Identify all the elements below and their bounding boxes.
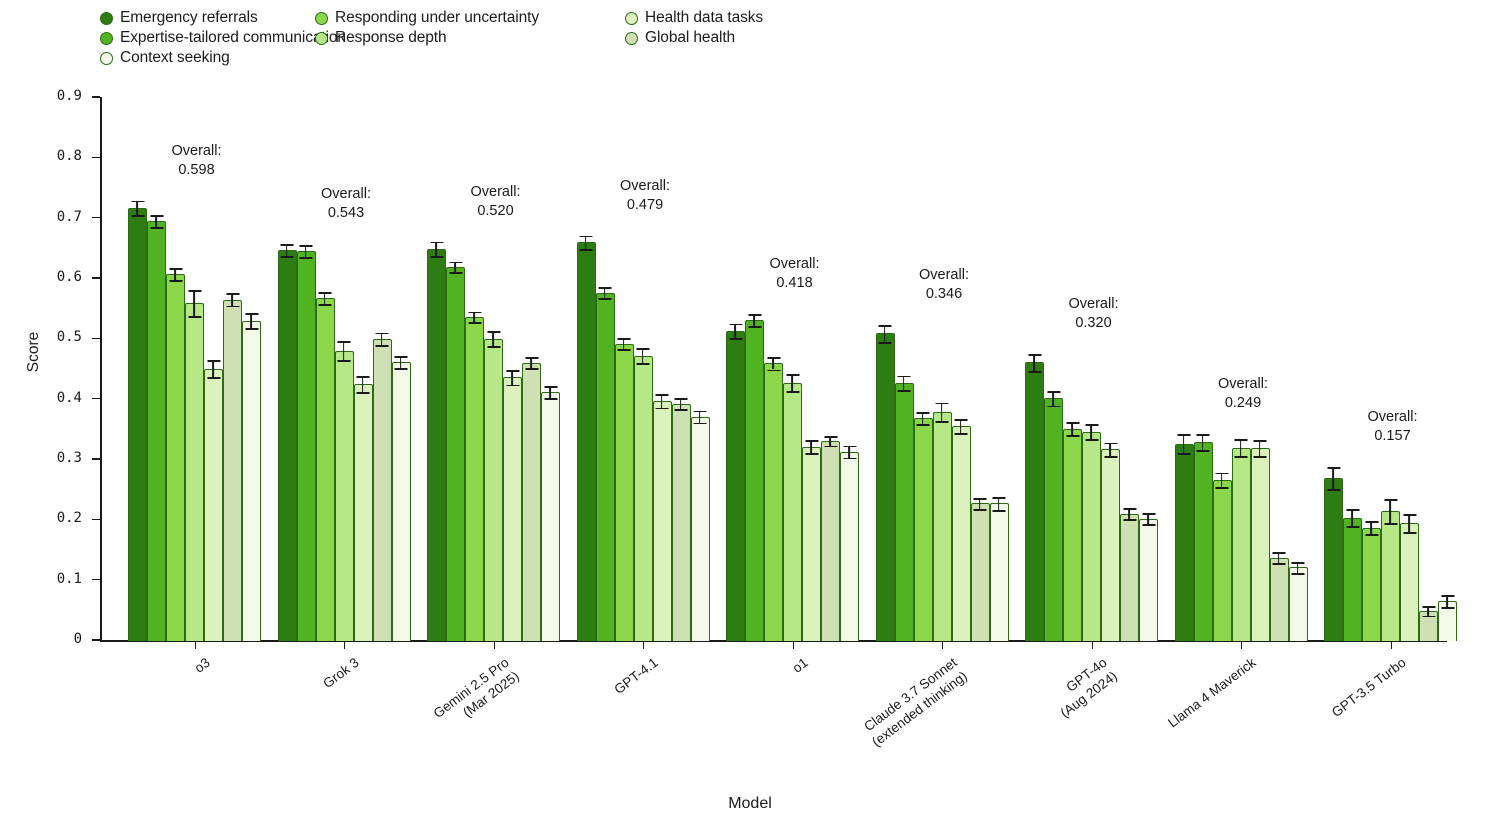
error-bar-cap: [656, 408, 669, 410]
error-bar-line: [400, 356, 402, 368]
error-bar-cap: [1254, 456, 1267, 458]
bar[interactable]: [802, 447, 821, 641]
error-bar-cap: [1365, 521, 1378, 523]
bar[interactable]: [335, 351, 354, 641]
error-bar-cap: [525, 357, 538, 359]
error-bar-cap: [506, 385, 519, 387]
error-bar-cap: [430, 242, 443, 244]
error-bar-line: [998, 497, 1000, 510]
bar[interactable]: [1213, 480, 1232, 641]
bar-wrapper: [1082, 97, 1101, 641]
bar-group-bars: [726, 97, 859, 641]
error-bar-line: [1202, 434, 1204, 450]
bar-wrapper: [503, 97, 522, 641]
error-bar-line: [1052, 391, 1054, 405]
bar[interactable]: [634, 356, 653, 641]
error-bar-cap: [1216, 473, 1229, 475]
y-axis-tick: [92, 519, 100, 520]
y-axis-tick-label: 0.3: [22, 450, 82, 466]
bar-wrapper: [783, 97, 802, 641]
error-bar-line: [250, 313, 252, 329]
y-axis-tick: [92, 217, 100, 218]
error-bar-cap: [1047, 391, 1060, 393]
bar-wrapper: [1438, 97, 1457, 641]
error-bar-cap: [993, 497, 1006, 499]
error-bar-line: [305, 245, 307, 257]
error-bar-cap: [843, 458, 856, 460]
error-bar-cap: [1178, 453, 1191, 455]
bar[interactable]: [764, 363, 783, 641]
error-bar-cap: [879, 325, 892, 327]
bar-wrapper: [484, 97, 503, 641]
bar[interactable]: [1251, 448, 1270, 641]
error-bar-line: [1071, 422, 1073, 435]
error-bar-line: [922, 412, 924, 424]
group-overall-annotation: Overall: 0.157: [1318, 408, 1468, 446]
error-bar-line: [1090, 424, 1092, 440]
error-bar-cap: [1104, 443, 1117, 445]
error-bar-cap: [207, 360, 220, 362]
group-overall-annotation: Overall: 0.249: [1168, 375, 1318, 413]
bar[interactable]: [1381, 511, 1400, 641]
bar[interactable]: [895, 383, 914, 641]
legend-item-label: Response depth: [335, 29, 447, 47]
error-bar-line: [585, 236, 587, 249]
bar-wrapper: [821, 97, 840, 641]
error-bar-cap: [1028, 371, 1041, 373]
legend-swatch-icon: [625, 12, 638, 25]
bar-group-bars: [876, 97, 1009, 641]
legend-item-label: Emergency referrals: [120, 9, 258, 27]
bar[interactable]: [726, 331, 745, 641]
bar[interactable]: [1343, 518, 1362, 641]
bar-wrapper: [1213, 97, 1232, 641]
bar[interactable]: [1120, 514, 1139, 641]
legend-swatch-icon: [315, 32, 328, 45]
error-bar-cap: [1197, 434, 1210, 436]
bar[interactable]: [484, 339, 503, 641]
group-overall-annotation: Overall: 0.346: [869, 266, 1019, 304]
bar-wrapper: [1362, 97, 1381, 641]
legend-item[interactable]: Responding under uncertainty: [315, 8, 625, 28]
error-bar-cap: [1327, 489, 1340, 491]
error-bar-cap: [395, 368, 408, 370]
bar[interactable]: [278, 250, 297, 641]
error-bar-line: [903, 376, 905, 390]
bar-wrapper: [1251, 97, 1270, 641]
group-overall-annotation: Overall: 0.479: [570, 177, 720, 215]
error-bar-cap: [150, 227, 163, 229]
bar-wrapper: [745, 97, 764, 641]
error-bar-cap: [936, 421, 949, 423]
bar[interactable]: [392, 362, 411, 641]
error-bar-line: [1446, 595, 1448, 607]
x-axis-tick: [494, 641, 495, 649]
error-bar-cap: [1066, 435, 1079, 437]
error-bar-cap: [1142, 513, 1155, 515]
bar[interactable]: [465, 317, 484, 641]
chart-legend: Emergency referralsResponding under unce…: [100, 8, 930, 68]
bar-wrapper: [726, 97, 745, 641]
bar[interactable]: [990, 503, 1009, 641]
error-bar-cap: [675, 398, 688, 400]
error-bar-cap: [974, 498, 987, 500]
y-axis-tick-label: 0.9: [22, 88, 82, 104]
bar[interactable]: [1194, 442, 1213, 641]
group-overall-annotation: Overall: 0.418: [720, 255, 870, 293]
bar[interactable]: [914, 418, 933, 641]
error-bar-line: [642, 348, 644, 364]
bar-wrapper: [427, 97, 446, 641]
error-bar-cap: [430, 256, 443, 258]
error-bar-line: [136, 201, 138, 215]
error-bar-cap: [300, 245, 313, 247]
bar[interactable]: [242, 321, 261, 641]
error-bar-line: [772, 357, 774, 369]
error-bar-line: [1221, 473, 1223, 487]
bar[interactable]: [503, 377, 522, 641]
legend-item[interactable]: Response depth: [315, 28, 625, 48]
bar[interactable]: [1082, 432, 1101, 641]
bar[interactable]: [1362, 528, 1381, 641]
group-overall-annotation: Overall: 0.543: [271, 185, 421, 223]
y-axis-tick: [92, 338, 100, 339]
error-bar-line: [1408, 514, 1410, 532]
error-bar-cap: [656, 394, 669, 396]
error-bar-line: [381, 333, 383, 345]
bar[interactable]: [1175, 444, 1194, 641]
y-axis-tick: [92, 458, 100, 459]
bar[interactable]: [1139, 519, 1158, 641]
bar[interactable]: [204, 369, 223, 641]
error-bar-cap: [729, 338, 742, 340]
error-bar-cap: [824, 446, 837, 448]
error-bar-cap: [487, 346, 500, 348]
bar[interactable]: [577, 242, 596, 641]
error-bar-cap: [1104, 456, 1117, 458]
error-bar-cap: [319, 292, 332, 294]
bar[interactable]: [427, 249, 446, 641]
bar-wrapper: [1324, 97, 1343, 641]
error-bar-line: [286, 244, 288, 256]
error-bar-cap: [936, 403, 949, 405]
bar-wrapper: [764, 97, 783, 641]
bar[interactable]: [691, 417, 710, 641]
x-axis-tick: [793, 641, 794, 649]
error-bar-cap: [169, 268, 182, 270]
error-bar-cap: [955, 433, 968, 435]
bar[interactable]: [185, 303, 204, 641]
error-bar-cap: [1085, 439, 1098, 441]
group-overall-annotation: Overall: 0.320: [1019, 295, 1169, 333]
bar-group: [278, 97, 411, 641]
y-axis-tick: [92, 96, 100, 97]
bar-wrapper: [278, 97, 297, 641]
bar[interactable]: [1063, 429, 1082, 641]
bar-wrapper: [1419, 97, 1438, 641]
error-bar-cap: [580, 249, 593, 251]
error-bar-cap: [824, 436, 837, 438]
bar-wrapper: [1025, 97, 1044, 641]
error-bar-cap: [468, 312, 481, 314]
legend-swatch-icon: [625, 32, 638, 45]
bar-wrapper: [1063, 97, 1082, 641]
error-bar-cap: [1403, 532, 1416, 534]
error-bar-cap: [281, 256, 294, 258]
error-bar-cap: [694, 423, 707, 425]
bar-group: [1324, 97, 1457, 641]
error-bar-line: [324, 292, 326, 304]
bar[interactable]: [596, 293, 615, 641]
error-bar-cap: [395, 356, 408, 358]
error-bar-cap: [1123, 519, 1136, 521]
x-axis-label: Model: [0, 795, 1500, 813]
bar[interactable]: [840, 452, 859, 641]
chart-plot-area: 00.10.20.30.40.50.60.70.80.9 Score Overa…: [0, 88, 1500, 668]
bar[interactable]: [446, 267, 465, 641]
error-bar-cap: [1178, 434, 1191, 436]
bar-wrapper: [990, 97, 1009, 641]
bar-wrapper: [1139, 97, 1158, 641]
error-bar-cap: [357, 376, 370, 378]
error-bar-line: [960, 419, 962, 433]
bar[interactable]: [1270, 558, 1289, 641]
error-bar-cap: [245, 313, 258, 315]
bar[interactable]: [1324, 478, 1343, 641]
legend-item[interactable]: Expertise-tailored communication: [100, 28, 315, 48]
error-bar-line: [1109, 443, 1111, 456]
error-bar-line: [810, 440, 812, 453]
y-axis-tick-label: 0: [22, 631, 82, 647]
y-axis-tick-label: 0.8: [22, 148, 82, 164]
y-axis-tick-label: 0.6: [22, 269, 82, 285]
error-bar-cap: [1384, 499, 1397, 501]
legend-item[interactable]: Context seeking: [100, 48, 315, 68]
bar[interactable]: [952, 426, 971, 641]
error-bar-cap: [1346, 509, 1359, 511]
error-bar-cap: [748, 326, 761, 328]
error-bar-cap: [580, 236, 593, 238]
bar-group-bars: [427, 97, 560, 641]
error-bar-cap: [131, 201, 144, 203]
bar-wrapper: [914, 97, 933, 641]
error-bar-cap: [357, 392, 370, 394]
error-bar-cap: [338, 341, 351, 343]
error-bar-cap: [955, 419, 968, 421]
error-bar-cap: [898, 376, 911, 378]
error-bar-line: [1351, 509, 1353, 526]
error-bar-line: [699, 411, 701, 423]
error-bar-line: [791, 374, 793, 391]
bar-wrapper: [335, 97, 354, 641]
error-bar-cap: [207, 377, 220, 379]
bar-wrapper: [952, 97, 971, 641]
bar-group: [726, 97, 859, 641]
error-bar-cap: [1292, 562, 1305, 564]
bar[interactable]: [128, 208, 147, 641]
error-bar-cap: [767, 370, 780, 372]
bar[interactable]: [821, 441, 840, 641]
error-bar-line: [1033, 354, 1035, 371]
error-bar-line: [155, 215, 157, 227]
bar-wrapper: [522, 97, 541, 641]
bar[interactable]: [316, 298, 335, 641]
bar[interactable]: [971, 503, 990, 641]
x-axis-tick-label: o1: [649, 654, 811, 782]
bar-wrapper: [446, 97, 465, 641]
x-axis-tick-label: Grok 3: [200, 654, 362, 782]
bar-group-bars: [1175, 97, 1308, 641]
error-bar-cap: [300, 257, 313, 259]
error-bar-cap: [618, 349, 631, 351]
bar[interactable]: [1232, 448, 1251, 641]
y-axis-line: [100, 97, 102, 641]
bar-group-bars: [1025, 97, 1158, 641]
error-bar-cap: [1142, 524, 1155, 526]
error-bar-line: [1370, 521, 1372, 534]
bar[interactable]: [672, 404, 691, 641]
bar[interactable]: [522, 363, 541, 641]
error-bar-cap: [226, 293, 239, 295]
legend-item[interactable]: Health data tasks: [625, 8, 925, 28]
error-bar-cap: [729, 324, 742, 326]
bar[interactable]: [1400, 523, 1419, 641]
y-axis-tick: [92, 157, 100, 158]
bar-wrapper: [354, 97, 373, 641]
bar[interactable]: [297, 251, 316, 641]
error-bar-cap: [376, 345, 389, 347]
error-bar-cap: [188, 316, 201, 318]
error-bar-line: [661, 394, 663, 407]
bar-wrapper: [465, 97, 484, 641]
bar[interactable]: [876, 333, 895, 641]
bar[interactable]: [933, 412, 952, 641]
error-bar-cap: [319, 304, 332, 306]
bar-wrapper: [840, 97, 859, 641]
error-bar-cap: [281, 244, 294, 246]
y-axis-tick: [92, 398, 100, 399]
error-bar-cap: [1273, 552, 1286, 554]
error-bar-cap: [843, 446, 856, 448]
error-bar-cap: [1216, 487, 1229, 489]
error-bar-line: [549, 386, 551, 398]
bar[interactable]: [147, 221, 166, 641]
error-bar-cap: [1028, 354, 1041, 356]
error-bar-cap: [1085, 424, 1098, 426]
error-bar-cap: [694, 411, 707, 413]
bar-wrapper: [373, 97, 392, 641]
bar-wrapper: [297, 97, 316, 641]
error-bar-cap: [449, 262, 462, 264]
error-bar-line: [193, 290, 195, 315]
error-bar-cap: [748, 314, 761, 316]
bar[interactable]: [1044, 398, 1063, 641]
x-axis-tick-label: GPT-4.1: [499, 654, 661, 782]
bar[interactable]: [745, 320, 764, 641]
bar-wrapper: [802, 97, 821, 641]
error-bar-line: [1240, 439, 1242, 456]
legend-item-label: Responding under uncertainty: [335, 9, 539, 27]
y-axis-tick: [92, 639, 100, 640]
error-bar-cap: [1254, 440, 1267, 442]
bar[interactable]: [541, 392, 560, 641]
bar[interactable]: [653, 401, 672, 641]
bar-wrapper: [933, 97, 952, 641]
bar-group: [427, 97, 560, 641]
error-bar-cap: [169, 280, 182, 282]
group-overall-annotation: Overall: 0.520: [421, 183, 571, 221]
bar-wrapper: [1194, 97, 1213, 641]
error-bar-cap: [1273, 563, 1286, 565]
legend-swatch-icon: [100, 12, 113, 25]
error-bar-cap: [226, 306, 239, 308]
error-bar-line: [174, 268, 176, 280]
x-axis-tick-label: o3: [51, 654, 213, 782]
bar[interactable]: [615, 344, 634, 641]
error-bar-line: [1259, 440, 1261, 456]
error-bar-cap: [1235, 439, 1248, 441]
bar[interactable]: [166, 274, 185, 641]
bar-wrapper: [541, 97, 560, 641]
error-bar-cap: [786, 374, 799, 376]
error-bar-cap: [544, 386, 557, 388]
error-bar-line: [1183, 434, 1185, 453]
bar[interactable]: [1025, 362, 1044, 641]
error-bar-cap: [1292, 573, 1305, 575]
bar-group: [1175, 97, 1308, 641]
error-bar-cap: [917, 424, 930, 426]
error-bar-cap: [1123, 508, 1136, 510]
x-axis-tick-label: GPT-4o (Aug 2024): [948, 654, 1120, 795]
error-bar-line: [212, 360, 214, 377]
bar-group-bars: [1324, 97, 1457, 641]
bar[interactable]: [223, 300, 242, 641]
bar[interactable]: [373, 339, 392, 641]
bar[interactable]: [1101, 449, 1120, 641]
error-bar-line: [734, 324, 736, 338]
bar-group: [1025, 97, 1158, 641]
x-axis-tick-label: Gemini 2.5 Pro (Mar 2025): [350, 654, 522, 795]
bar-wrapper: [1270, 97, 1289, 641]
error-bar-cap: [1047, 406, 1060, 408]
error-bar-cap: [1066, 422, 1079, 424]
legend-item[interactable]: Emergency referrals: [100, 8, 315, 28]
error-bar-cap: [917, 412, 930, 414]
legend-item[interactable]: Global health: [625, 28, 925, 48]
legend-item-label: Expertise-tailored communication: [120, 29, 346, 47]
error-bar-line: [941, 403, 943, 421]
y-axis-tick-label: 0.1: [22, 571, 82, 587]
error-bar-line: [231, 293, 233, 305]
error-bar-line: [492, 331, 494, 345]
bar[interactable]: [783, 383, 802, 641]
error-bar-cap: [599, 298, 612, 300]
bar[interactable]: [354, 384, 373, 641]
error-bar-cap: [1441, 607, 1454, 609]
legend-swatch-icon: [100, 32, 113, 45]
error-bar-line: [511, 370, 513, 384]
group-overall-annotation: Overall: 0.598: [122, 142, 272, 180]
error-bar-line: [435, 242, 437, 256]
error-bar-cap: [245, 328, 258, 330]
x-axis-tick: [643, 641, 644, 649]
error-bar-cap: [338, 360, 351, 362]
bar-wrapper: [316, 97, 335, 641]
bar[interactable]: [1289, 567, 1308, 641]
bar-wrapper: [1101, 97, 1120, 641]
error-bar-line: [848, 446, 850, 458]
error-bar-cap: [675, 409, 688, 411]
